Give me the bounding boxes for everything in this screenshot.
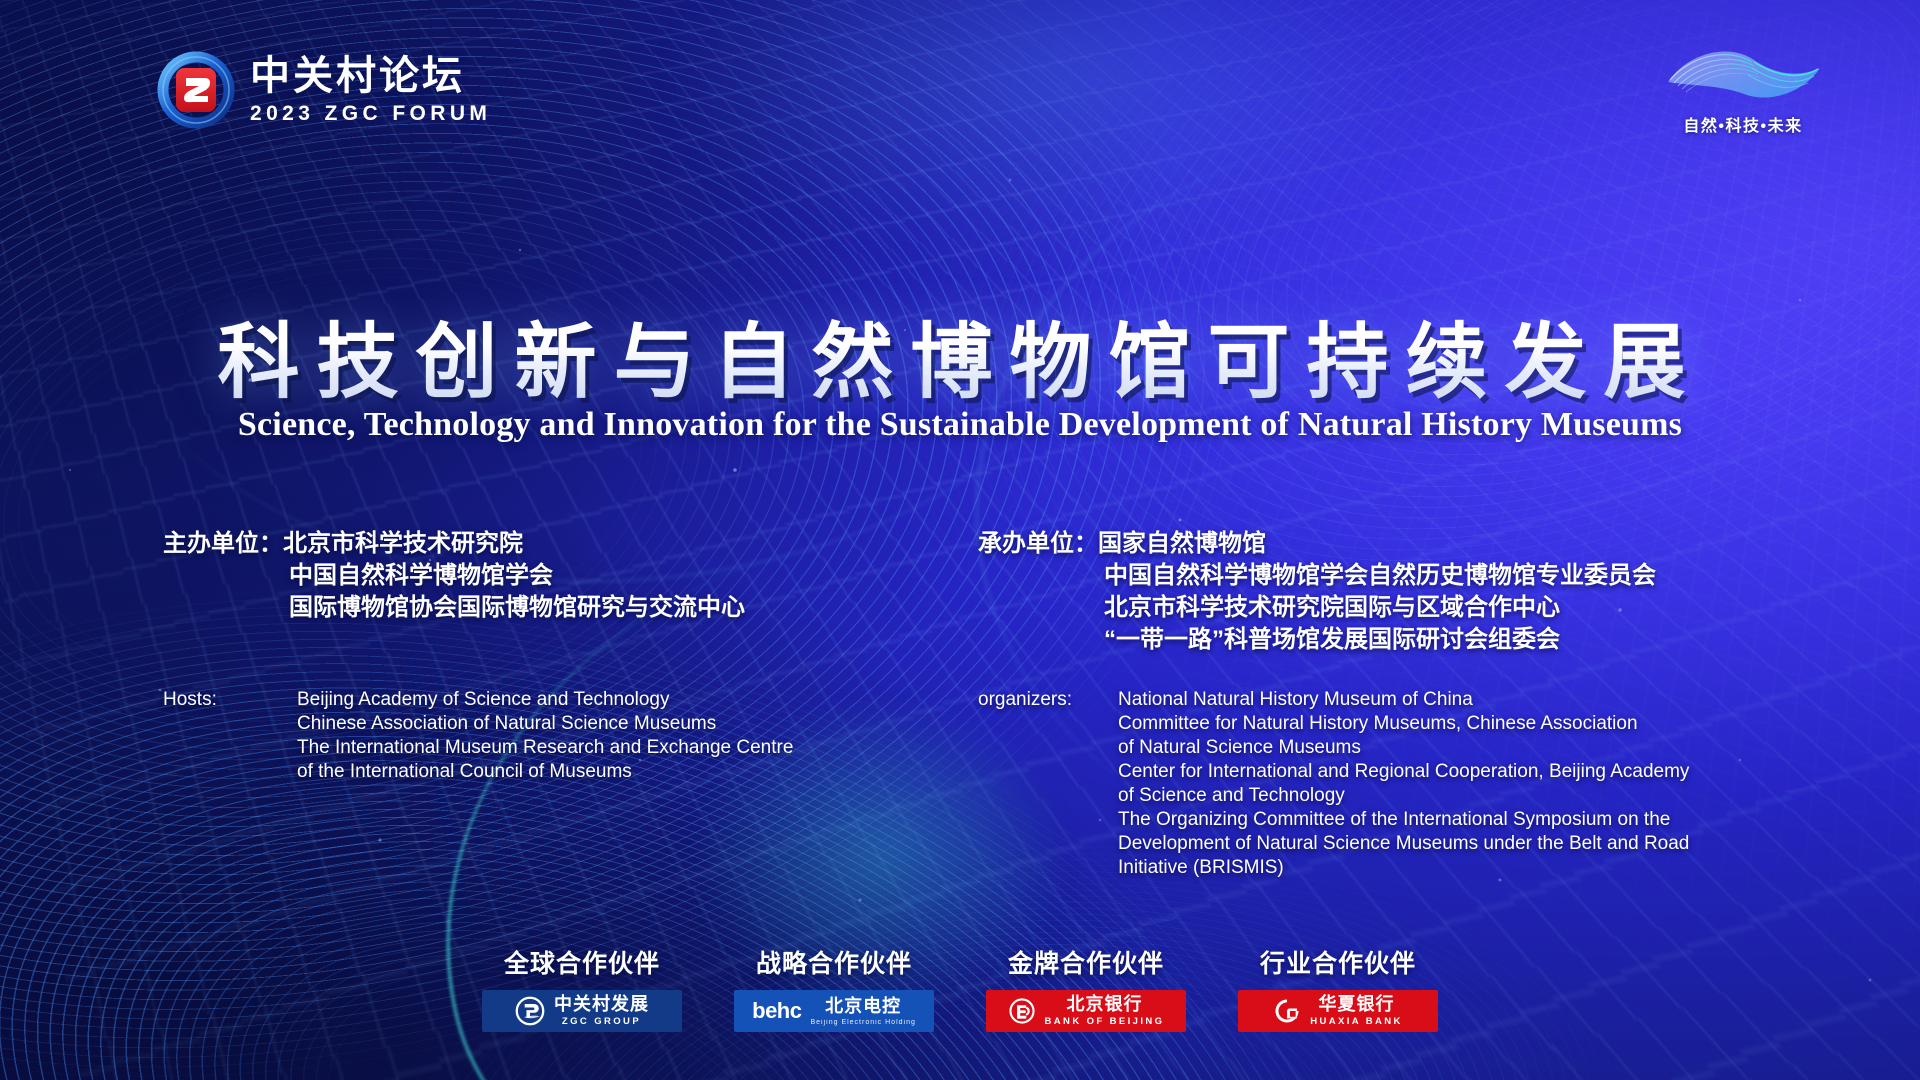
partner-categories: 全球合作伙伴 战略合作伙伴 金牌合作伙伴 行业合作伙伴 — [0, 944, 1920, 980]
forum-name-cn: 中关村论坛 — [250, 56, 491, 96]
organizers-cn-line: 中国自然科学博物馆学会自然历史博物馆专业委员会 — [978, 560, 1656, 592]
hosts-en-line: of the International Council of Museums — [297, 760, 793, 784]
forum-name-en: 2023 ZGC FORUM — [250, 103, 491, 124]
organizers-block-en: organizers: National Natural History Mus… — [978, 688, 1689, 880]
hosts-cn-line: 主办单位：北京市科学技术研究院 — [163, 528, 745, 560]
huaxia-bank-icon — [1273, 997, 1301, 1025]
organizers-en-line: Center for International and Regional Co… — [1118, 760, 1689, 784]
organizers-en-line: National Natural History Museum of China — [1118, 688, 1689, 712]
zgc-group-name-en: ZGC GROUP — [562, 1017, 641, 1027]
huaxia-bank-name-en: HUAXIA BANK — [1310, 1017, 1403, 1027]
bank-of-beijing-name-en: BANK OF BEIJING — [1045, 1017, 1165, 1027]
hosts-en-label: Hosts: — [163, 688, 297, 784]
zgc-group-logo: 中关村发展 ZGC GROUP — [482, 990, 682, 1032]
bank-of-beijing-icon — [1008, 997, 1036, 1025]
organizers-en-line: The Organizing Committee of the Internat… — [1118, 808, 1689, 832]
partner-category-strategic: 战略合作伙伴 — [734, 944, 934, 980]
organizers-en-line: of Natural Science Museums — [1118, 736, 1689, 760]
wave-shell-icon — [1658, 42, 1828, 108]
hosts-cn-line: 中国自然科学博物馆学会 — [163, 560, 745, 592]
organizers-cn-line: 北京市科学技术研究院国际与区域合作中心 — [978, 592, 1656, 624]
zgc-group-name-cn: 中关村发展 — [554, 995, 649, 1013]
hosts-en-line: Chinese Association of Natural Science M… — [297, 712, 793, 736]
partner-category-industry: 行业合作伙伴 — [1238, 944, 1438, 980]
hosts-en-line: Beijing Academy of Science and Technolog… — [297, 688, 793, 712]
theme-slogan: 自然•科技•未来 — [1648, 112, 1838, 136]
organizers-en-label: organizers: — [978, 688, 1118, 880]
organizers-cn-line: “一带一路”科普场馆发展国际研讨会组委会 — [978, 624, 1656, 656]
partner-category-gold: 金牌合作伙伴 — [986, 944, 1186, 980]
organizers-en-line: Committee for Natural History Museums, C… — [1118, 712, 1689, 736]
partner-logos: 中关村发展 ZGC GROUP behc 北京电控 Beijing Electr… — [0, 990, 1920, 1032]
behc-logo: behc 北京电控 Beijing Electronic Holding — [734, 990, 934, 1032]
hosts-cn-line: 国际博物馆协会国际博物馆研究与交流中心 — [163, 592, 745, 624]
organizers-cn-line: 承办单位：国家自然博物馆 — [978, 528, 1656, 560]
bank-of-beijing-logo: 北京银行 BANK OF BEIJING — [986, 990, 1186, 1032]
bank-of-beijing-name-cn: 北京银行 — [1067, 995, 1143, 1013]
behc-sub-en: Beijing Electronic Holding — [810, 1019, 915, 1026]
zgc-group-icon — [515, 996, 545, 1026]
organizers-en-line: of Science and Technology — [1118, 784, 1689, 808]
behc-wordmark: behc — [752, 1000, 801, 1022]
huaxia-bank-logo: 华夏银行 HUAXIA BANK — [1238, 990, 1438, 1032]
organizers-en-line: Development of Natural Science Museums u… — [1118, 832, 1689, 856]
hosts-block-cn: 主办单位：北京市科学技术研究院 中国自然科学博物馆学会 国际博物馆协会国际博物馆… — [163, 528, 745, 624]
zgc-forum-logo: 中关村论坛 2023 ZGC FORUM — [156, 50, 491, 130]
partner-category-global: 全球合作伙伴 — [482, 944, 682, 980]
page-title-cn: 科技创新与自然博物馆可持续发展 — [0, 295, 1920, 414]
organizers-block-cn: 承办单位：国家自然博物馆 中国自然科学博物馆学会自然历史博物馆专业委员会 北京市… — [978, 528, 1656, 657]
hosts-block-en: Hosts: Beijing Academy of Science and Te… — [163, 688, 793, 784]
huaxia-bank-name-cn: 华夏银行 — [1319, 995, 1395, 1013]
organizers-en-line: Initiative (BRISMIS) — [1118, 856, 1689, 880]
behc-name-cn: 北京电控 — [825, 997, 901, 1015]
page-title-en: Science, Technology and Innovation for t… — [0, 406, 1920, 444]
theme-logo: 自然•科技•未来 — [1648, 42, 1838, 136]
poster-canvas: 中关村论坛 2023 ZGC FORUM — [0, 0, 1920, 1080]
hosts-en-line: The International Museum Research and Ex… — [297, 736, 793, 760]
zgc-forum-emblem — [156, 50, 236, 130]
